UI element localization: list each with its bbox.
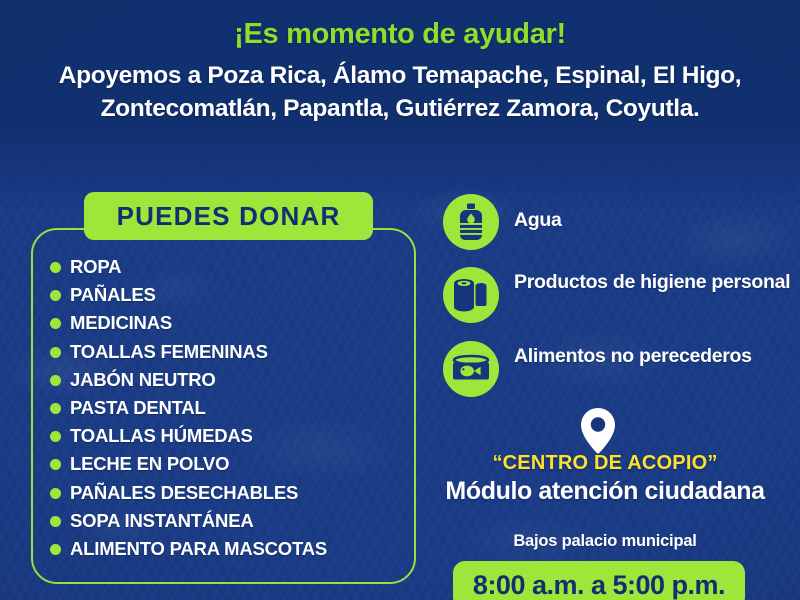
location-name: Módulo atención ciudadana bbox=[440, 477, 770, 507]
list-item: TOALLAS FEMENINAS bbox=[50, 338, 410, 366]
donate-item-list: ROPA PAÑALES MEDICINAS TOALLAS FEMENINAS… bbox=[50, 253, 410, 563]
location-title: “CENTRO DE ACOPIO” bbox=[440, 452, 770, 475]
bullet-dot-icon bbox=[50, 403, 61, 414]
list-item: PAÑALES bbox=[50, 281, 410, 309]
map-pin-icon bbox=[578, 407, 618, 455]
hours-banner: 8:00 a.m. a 5:00 p.m. bbox=[453, 561, 745, 600]
list-item-label: MEDICINAS bbox=[70, 312, 172, 334]
bullet-dot-icon bbox=[50, 347, 61, 358]
icon-row-alimentos: Alimentos no perecederos bbox=[443, 341, 752, 397]
bullet-dot-icon bbox=[50, 262, 61, 273]
list-item: JABÓN NEUTRO bbox=[50, 366, 410, 394]
list-item-label: TOALLAS FEMENINAS bbox=[70, 341, 268, 363]
canned-food-icon bbox=[443, 341, 499, 397]
icon-row-label: Productos de higiene personal bbox=[514, 267, 790, 294]
bullet-dot-icon bbox=[50, 318, 61, 329]
icon-row-label: Agua bbox=[514, 194, 562, 232]
list-item-label: ROPA bbox=[70, 256, 121, 278]
icon-row-higiene: Productos de higiene personal bbox=[443, 267, 790, 323]
list-item: TOALLAS HÚMEDAS bbox=[50, 422, 410, 450]
list-item: MEDICINAS bbox=[50, 309, 410, 337]
donate-panel-title-label: PUEDES DONAR bbox=[117, 201, 341, 232]
page-subtitle: Apoyemos a Poza Rica, Álamo Temapache, E… bbox=[50, 60, 750, 126]
water-bottle-icon bbox=[443, 194, 499, 250]
icon-row-agua: Agua bbox=[443, 194, 562, 250]
list-item: PASTA DENTAL bbox=[50, 394, 410, 422]
donate-panel-title: PUEDES DONAR bbox=[84, 192, 373, 240]
page-title: ¡Es momento de ayudar! bbox=[0, 18, 800, 51]
list-item-label: PAÑALES bbox=[70, 284, 156, 306]
list-item-label: PASTA DENTAL bbox=[70, 397, 206, 419]
list-item-label: ALIMENTO PARA MASCOTAS bbox=[70, 538, 327, 560]
list-item: ROPA bbox=[50, 253, 410, 281]
list-item-label: SOPA INSTANTÁNEA bbox=[70, 510, 254, 532]
bullet-dot-icon bbox=[50, 459, 61, 470]
bullet-dot-icon bbox=[50, 488, 61, 499]
list-item: SOPA INSTANTÁNEA bbox=[50, 507, 410, 535]
bullet-dot-icon bbox=[50, 375, 61, 386]
icon-row-label: Alimentos no perecederos bbox=[514, 341, 752, 368]
list-item-label: TOALLAS HÚMEDAS bbox=[70, 425, 253, 447]
bullet-dot-icon bbox=[50, 516, 61, 527]
donation-poster: ¡Es momento de ayudar! Apoyemos a Poza R… bbox=[0, 0, 800, 600]
hours-label: 8:00 a.m. a 5:00 p.m. bbox=[473, 570, 725, 600]
list-item: LECHE EN POLVO bbox=[50, 450, 410, 478]
bullet-dot-icon bbox=[50, 290, 61, 301]
list-item-label: PAÑALES DESECHABLES bbox=[70, 482, 298, 504]
list-item: PAÑALES DESECHABLES bbox=[50, 479, 410, 507]
list-item: ALIMENTO PARA MASCOTAS bbox=[50, 535, 410, 563]
bullet-dot-icon bbox=[50, 431, 61, 442]
list-item-label: JABÓN NEUTRO bbox=[70, 369, 216, 391]
bullet-dot-icon bbox=[50, 544, 61, 555]
list-item-label: LECHE EN POLVO bbox=[70, 453, 229, 475]
location-address: Bajos palacio municipal bbox=[440, 532, 770, 551]
toilet-paper-icon bbox=[443, 267, 499, 323]
